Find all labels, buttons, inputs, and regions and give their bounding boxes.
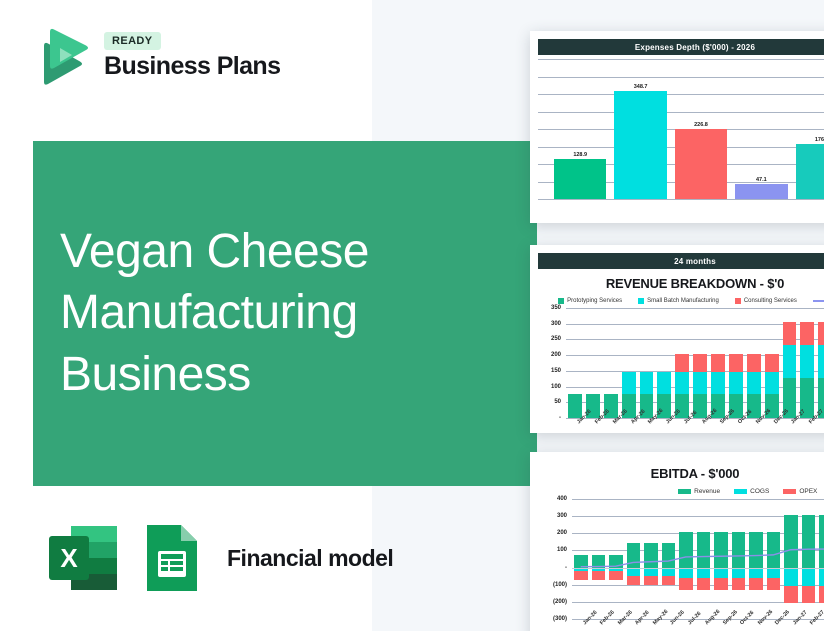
revenue-x-axis: Jan-26Feb-26Mar-26Apr-26May-26Jun-26Jul-… [566, 420, 824, 433]
revenue-stack-segment[interactable] [657, 372, 671, 394]
y-tick-label[interactable]: 250 [551, 336, 561, 342]
expenses-bar-value[interactable]: 176.5 [815, 137, 824, 143]
x-tick-cell[interactable]: Apr-26 [625, 621, 643, 631]
revenue-stack-column[interactable] [763, 308, 781, 418]
ebitda-trend-line [572, 499, 824, 619]
y-tick-label[interactable]: 300 [557, 513, 567, 519]
x-tick-cell[interactable]: May-26 [638, 420, 656, 433]
y-tick-label[interactable]: 100 [551, 384, 561, 390]
revenue-chart-title: REVENUE BREAKDOWN - $'0 [530, 276, 824, 291]
chart-panel-expenses[interactable]: Expenses Depth ($'000) - 2026 128.9348.7… [530, 31, 824, 223]
y-tick-label[interactable]: (300) [553, 616, 567, 622]
expenses-bar[interactable]: 226.8 [671, 59, 731, 199]
y-tick-label[interactable]: 50 [554, 399, 561, 405]
revenue-stack-segment[interactable] [800, 322, 814, 345]
x-tick-cell[interactable]: Feb-27 [800, 621, 818, 631]
ebitda-legend: RevenueCOGSOPEX0 [530, 488, 824, 495]
y-tick-label[interactable]: 300 [551, 321, 561, 327]
revenue-stack-column[interactable] [584, 308, 602, 418]
revenue-stack-column[interactable] [620, 308, 638, 418]
x-tick-cell[interactable]: Jun-26 [660, 621, 678, 631]
revenue-stack-segment[interactable] [747, 372, 761, 394]
brand-logo[interactable]: READY Business Plans [34, 26, 280, 86]
ebitda-zero-line[interactable] [572, 568, 824, 569]
revenue-stack-segment[interactable] [711, 354, 725, 373]
legend-item[interactable]: - [813, 298, 824, 304]
x-tick-cell[interactable]: Jul-26 [677, 621, 695, 631]
revenue-legend: Prototyping ServicesSmall Batch Manufact… [530, 298, 824, 304]
revenue-stack-segment[interactable] [765, 354, 779, 373]
footer-label: Financial model [227, 545, 393, 572]
y-tick-label[interactable]: 400 [557, 496, 567, 502]
y-tick-label[interactable]: 200 [557, 530, 567, 536]
revenue-stack-segment[interactable] [675, 354, 689, 373]
expenses-bar-rect[interactable] [675, 129, 727, 199]
x-tick-cell[interactable]: Sep-26 [709, 420, 727, 433]
y-tick-label[interactable]: 350 [551, 305, 561, 311]
legend-item[interactable]: Revenue [678, 488, 720, 495]
legend-label[interactable]: Small Batch Manufacturing [647, 298, 719, 304]
expenses-bar[interactable]: 348.7 [610, 59, 670, 199]
legend-label[interactable]: Consulting Services [744, 298, 797, 304]
x-tick-cell[interactable]: May-26 [642, 621, 660, 631]
page-title: Vegan Cheese Manufacturing Business [60, 221, 510, 405]
x-tick-cell[interactable]: Oct-26 [730, 621, 748, 631]
hero-block: Vegan Cheese Manufacturing Business [33, 141, 537, 486]
expenses-bar-value[interactable]: 226.8 [694, 122, 708, 128]
revenue-stack-column[interactable] [566, 308, 584, 418]
legend-swatch[interactable] [678, 489, 691, 494]
y-tick-label[interactable]: (100) [553, 582, 567, 588]
revenue-stack-segment[interactable] [783, 322, 797, 345]
x-tick-cell[interactable]: Oct-26 [727, 420, 745, 433]
revenue-stack-column[interactable] [691, 308, 709, 418]
revenue-y-axis: 35030025020015010050- [538, 308, 564, 418]
revenue-chart-header: 24 months [538, 253, 824, 269]
revenue-stack-column[interactable] [709, 308, 727, 418]
slide-canvas: READY Business Plans Vegan Cheese Manufa… [0, 0, 824, 631]
play-logo-icon [34, 26, 90, 86]
x-tick-cell[interactable]: Jan-26 [572, 621, 590, 631]
expenses-bar-rect[interactable] [554, 159, 606, 199]
revenue-stack-column[interactable] [638, 308, 656, 418]
legend-swatch[interactable] [558, 298, 564, 304]
expenses-bar-rect[interactable] [796, 144, 824, 199]
legend-item[interactable]: Small Batch Manufacturing [638, 298, 719, 304]
revenue-stack-column[interactable] [798, 308, 816, 418]
revenue-stack-segment[interactable] [729, 372, 743, 394]
x-tick-cell[interactable]: Feb-26 [584, 420, 602, 433]
revenue-stack-segment[interactable] [568, 394, 582, 418]
expenses-plot-area: 128.9348.7226.847.1176.5 [538, 59, 824, 199]
revenue-stack-column[interactable] [781, 308, 799, 418]
ebitda-y-axis: 400300200100-(100)(200)(300) [538, 499, 570, 619]
svg-text:X: X [60, 543, 78, 573]
ready-badge: READY [104, 32, 161, 50]
legend-swatch[interactable] [734, 489, 747, 494]
legend-swatch[interactable] [783, 489, 796, 494]
x-tick-cell[interactable]: Mar-27 [816, 420, 824, 433]
expenses-bar-rect[interactable] [614, 91, 666, 199]
x-tick-cell[interactable]: Sep-26 [712, 621, 730, 631]
revenue-stack-column[interactable] [727, 308, 745, 418]
x-tick-cell[interactable]: Nov-26 [745, 420, 763, 433]
ebitda-plot-area: 400300200100-(100)(200)(300) Jan-26Feb-2… [538, 499, 824, 619]
revenue-stack-segment[interactable] [747, 354, 761, 373]
ebitda-x-axis: Jan-26Feb-26Mar-26Apr-26May-26Jun-26Jul-… [572, 621, 824, 631]
x-tick-cell[interactable]: Dec-26 [765, 621, 783, 631]
revenue-stack-segment[interactable] [729, 354, 743, 373]
revenue-plot-area: 35030025020015010050- Jan-26Feb-26Mar-26… [538, 308, 824, 418]
expenses-bar-value[interactable]: 348.7 [634, 84, 648, 90]
legend-swatch[interactable] [813, 300, 824, 302]
legend-label[interactable]: COGS [750, 488, 769, 495]
revenue-stack-column[interactable] [673, 308, 691, 418]
revenue-bars [566, 308, 824, 418]
legend-label[interactable]: OPEX [799, 488, 817, 495]
expenses-bar-rect[interactable] [735, 184, 787, 199]
y-tick-label[interactable]: 200 [551, 352, 561, 358]
x-tick-cell[interactable]: Dec-26 [763, 420, 781, 433]
expenses-bar-value[interactable]: 47.1 [756, 177, 767, 183]
footer-row: X Financial model [45, 521, 393, 595]
x-tick-cell[interactable]: Jun-26 [655, 420, 673, 433]
x-tick-cell[interactable]: Jul-26 [673, 420, 691, 433]
y-tick-label[interactable]: (200) [553, 599, 567, 605]
legend-item[interactable]: Consulting Services [735, 298, 797, 304]
x-tick-cell[interactable]: Jan-27 [782, 621, 800, 631]
expenses-bar-value[interactable]: 128.9 [573, 152, 587, 158]
x-tick-cell[interactable]: Mar-27 [817, 621, 824, 631]
legend-item[interactable]: COGS [734, 488, 769, 495]
revenue-stack-column[interactable] [602, 308, 620, 418]
x-tick-cell[interactable]: Nov-26 [747, 621, 765, 631]
x-tick-cell[interactable]: Apr-26 [620, 420, 638, 433]
legend-label[interactable]: Revenue [694, 488, 720, 495]
revenue-stack-segment[interactable] [765, 372, 779, 394]
microsoft-excel-icon[interactable]: X [45, 521, 121, 595]
revenue-stack-segment[interactable] [783, 345, 797, 378]
revenue-stack-column[interactable] [816, 308, 824, 418]
chart-panel-ebitda[interactable]: EBITDA - $'000 RevenueCOGSOPEX0 40030020… [530, 452, 824, 631]
x-tick-cell[interactable]: Feb-27 [798, 420, 816, 433]
google-sheets-icon[interactable] [143, 521, 201, 595]
brand-name: Business Plans [104, 53, 280, 79]
chart-panel-revenue[interactable]: 24 months REVENUE BREAKDOWN - $'0 Protot… [530, 245, 824, 433]
y-tick-label[interactable]: - [565, 565, 567, 571]
legend-label[interactable]: Prototyping Services [567, 298, 622, 304]
revenue-stack-column[interactable] [745, 308, 763, 418]
revenue-stack-segment[interactable] [800, 345, 814, 378]
y-tick-label[interactable]: - [559, 415, 561, 421]
x-tick-cell[interactable]: Aug-26 [695, 621, 713, 631]
x-tick-cell[interactable]: Jan-27 [781, 420, 799, 433]
revenue-stack-segment[interactable] [640, 372, 654, 394]
expenses-bar[interactable]: 128.9 [550, 59, 610, 199]
revenue-stack-segment[interactable] [818, 322, 824, 345]
revenue-stack-segment[interactable] [711, 372, 725, 394]
revenue-stack-segment[interactable] [693, 354, 707, 373]
revenue-stack-segment[interactable] [622, 372, 636, 394]
y-tick-label[interactable]: 150 [551, 368, 561, 374]
legend-item[interactable]: OPEX [783, 488, 817, 495]
legend-swatch[interactable] [735, 298, 741, 304]
x-tick-cell[interactable]: Jan-26 [566, 420, 584, 433]
y-tick-label[interactable]: 100 [557, 547, 567, 553]
expenses-chart-header: Expenses Depth ($'000) - 2026 [538, 39, 824, 55]
ebitda-chart-title: EBITDA - $'000 [530, 466, 824, 481]
expenses-bar[interactable]: 47.1 [731, 59, 791, 199]
x-tick-cell[interactable]: Aug-26 [691, 420, 709, 433]
expenses-bar[interactable]: 176.5 [792, 59, 824, 199]
x-tick-cell[interactable]: Feb-26 [590, 621, 608, 631]
revenue-stack-segment[interactable] [675, 372, 689, 394]
revenue-stack-segment[interactable] [693, 372, 707, 394]
legend-item[interactable]: Prototyping Services [558, 298, 622, 304]
x-tick-cell[interactable]: Mar-26 [602, 420, 620, 433]
revenue-stack-segment[interactable] [818, 345, 824, 378]
expenses-bars: 128.9348.7226.847.1176.5 [550, 59, 824, 199]
revenue-stack-column[interactable] [655, 308, 673, 418]
x-tick-cell[interactable]: Mar-26 [607, 621, 625, 631]
legend-swatch[interactable] [638, 298, 644, 304]
